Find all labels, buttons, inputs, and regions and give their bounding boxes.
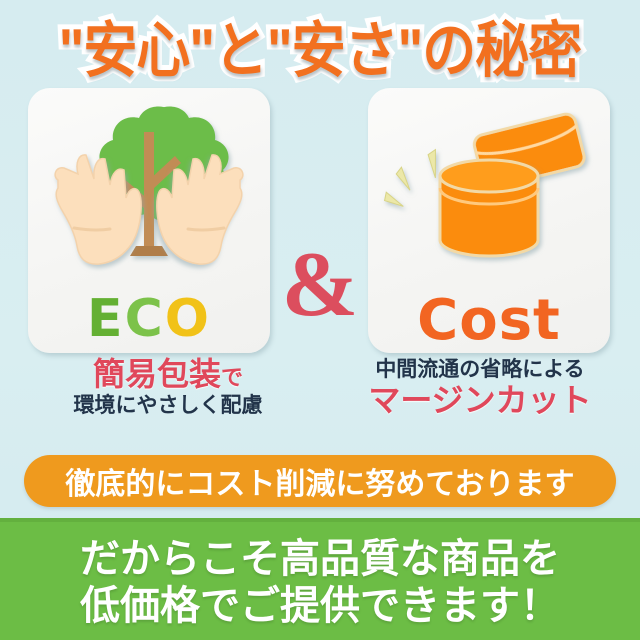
promo-banner: "安心"と"安さ"の秘密 — [0, 0, 640, 640]
cost-caption-main: マージンカット — [330, 384, 630, 418]
page-title: "安心"と"安さ"の秘密 — [59, 0, 581, 88]
eco-caption-main-text: 簡易包装 — [93, 356, 221, 392]
eco-caption-sub: 環境にやさしく配慮 — [18, 394, 318, 418]
eco-logo-text: ECO — [28, 293, 270, 345]
eco-caption: 簡易包装で 環境にやさしく配慮 — [18, 358, 318, 418]
banner-title-area: "安心"と"安さ"の秘密 — [0, 4, 640, 84]
cost-reduction-banner: 徹底的にコスト削減に努めております — [24, 455, 616, 507]
footer-line-1: だからこそ高品質な商品を — [80, 536, 560, 583]
eco-letter-c: C — [125, 289, 165, 349]
ampersand-separator: & — [268, 238, 372, 330]
cost-card: Cost — [368, 88, 610, 353]
eco-letter-o: O — [165, 289, 211, 349]
cost-reduction-banner-text: 徹底的にコスト削減に努めております — [65, 459, 574, 503]
eco-card: ECO — [28, 88, 270, 353]
footer-line-2: 低価格でご提供できます！ — [80, 583, 560, 630]
eco-letter-e: E — [87, 289, 125, 349]
eco-caption-main: 簡易包装で — [18, 358, 318, 392]
captions-row: 簡易包装で 環境にやさしく配慮 中間流通の省略による マージンカット — [0, 358, 640, 448]
cost-caption: 中間流通の省略による マージンカット — [330, 358, 630, 418]
cost-logo-text: Cost — [368, 293, 610, 349]
eco-caption-main-suffix: で — [221, 365, 243, 390]
cost-caption-sub: 中間流通の省略による — [330, 358, 630, 382]
feature-cards: ECO & — [0, 88, 640, 356]
footer-message: だからこそ高品質な商品を 低価格でご提供できます！ — [0, 518, 640, 640]
